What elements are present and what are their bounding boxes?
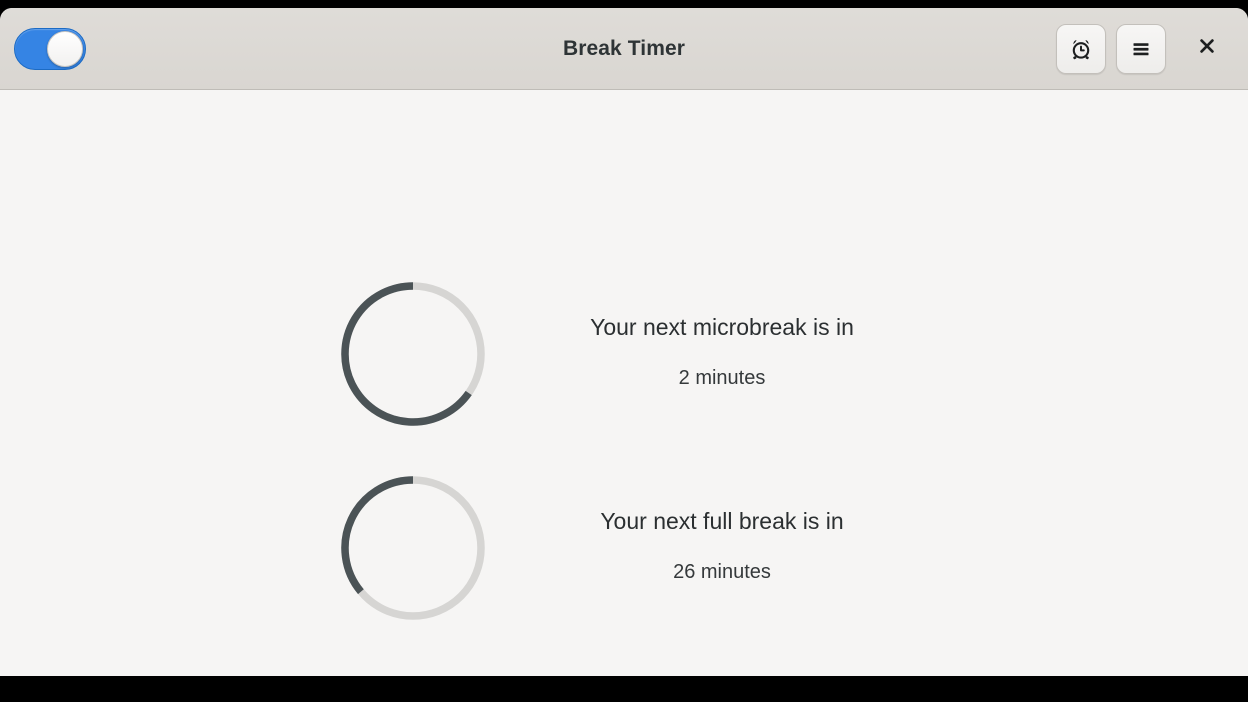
titlebar: Break Timer <box>0 8 1248 90</box>
hamburger-menu-icon <box>1129 37 1153 61</box>
fullbreak-text-block: Your next full break is in 26 minutes <box>572 508 872 589</box>
alarm-button[interactable] <box>1056 24 1106 74</box>
fullbreak-ring-progress <box>345 480 413 592</box>
titlebar-actions <box>1056 24 1234 74</box>
microbreak-value: 2 minutes <box>572 367 872 390</box>
close-icon <box>1197 36 1217 61</box>
fullbreak-value: 26 minutes <box>572 561 872 584</box>
microbreak-text-block: Your next microbreak is in 2 minutes <box>572 314 872 395</box>
enable-timer-toggle[interactable] <box>14 28 86 70</box>
content-area: Your next microbreak is in 2 minutes You… <box>0 90 1248 676</box>
app-window: Break Timer <box>0 8 1248 676</box>
fullbreak-progress-ring <box>330 465 496 631</box>
menu-button[interactable] <box>1116 24 1166 74</box>
microbreak-title: Your next microbreak is in <box>572 314 872 342</box>
microbreak-progress-ring <box>330 271 496 437</box>
fullbreak-title: Your next full break is in <box>572 508 872 536</box>
microbreak-timer-row: Your next microbreak is in 2 minutes <box>330 271 872 437</box>
close-button[interactable] <box>1184 26 1230 72</box>
toggle-knob <box>47 31 83 67</box>
microbreak-ring-progress <box>345 286 469 422</box>
fullbreak-timer-row: Your next full break is in 26 minutes <box>330 465 872 631</box>
alarm-clock-icon <box>1069 37 1093 61</box>
